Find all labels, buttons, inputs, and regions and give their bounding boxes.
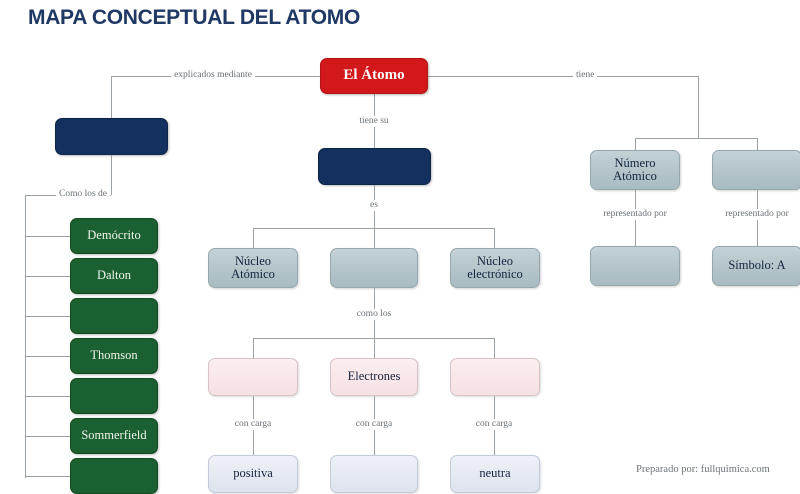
connector-left-drop — [111, 76, 112, 118]
connector-particle-drop-right — [494, 338, 495, 358]
node-simbolo-a[interactable]: Símbolo: A — [712, 246, 800, 286]
link-label-representado-por-2: representado por — [722, 209, 792, 220]
link-label-tiene-su: tiene su — [356, 116, 391, 127]
link-label-tiene: tiene — [573, 70, 597, 81]
node-nucleo-atomico[interactable]: Núcleo Atómico — [208, 248, 298, 288]
connector-left-stub-2 — [25, 276, 70, 277]
link-label-representado-por-1: representado por — [600, 209, 670, 220]
connector-left-stub-1 — [25, 236, 70, 237]
node-left-head[interactable] — [55, 118, 168, 155]
connector-center-drop-mid — [374, 228, 375, 248]
connector-left-stub-3 — [25, 316, 70, 317]
node-particle-1[interactable] — [208, 358, 298, 396]
node-numero-atomico[interactable]: Número Atómico — [590, 150, 680, 190]
node-root-atomo[interactable]: El Átomo — [320, 58, 428, 94]
link-label-con-carga-1: con carga — [232, 419, 274, 430]
connector-center-drop-left — [253, 228, 254, 248]
node-model-7[interactable] — [70, 458, 158, 494]
connector-left-stub-7 — [25, 476, 70, 477]
node-charge-positiva[interactable]: positiva — [208, 455, 298, 493]
node-model-sommerfield[interactable]: Sommerfield — [70, 418, 158, 454]
connector-right-drop-left — [635, 138, 636, 150]
node-right-representation-1[interactable] — [590, 246, 680, 286]
node-model-dalton[interactable]: Dalton — [70, 258, 158, 294]
link-label-como-los-de: Como los de — [56, 189, 110, 200]
footer-credit: Preparado por: fullquimica.com — [636, 464, 770, 475]
node-model-5[interactable] — [70, 378, 158, 414]
node-model-thomson[interactable]: Thomson — [70, 338, 158, 374]
connector-left-stub-5 — [25, 396, 70, 397]
link-label-con-carga-2: con carga — [353, 419, 395, 430]
connector-left-head-down — [111, 155, 112, 195]
node-right-property-2[interactable] — [712, 150, 800, 190]
connector-particle-drop-left — [253, 338, 254, 358]
link-label-es: es — [367, 200, 381, 211]
connector-left-stub-4 — [25, 356, 70, 357]
concept-map-canvas: MAPA CONCEPTUAL DEL ATOMO El Átomo expli… — [0, 0, 800, 494]
link-label-como-los: como los — [354, 309, 395, 320]
connector-center-drop-right — [494, 228, 495, 248]
connector-particle-drop-mid — [374, 338, 375, 358]
connector-right-drop-right — [757, 138, 758, 150]
connector-left-stub-6 — [25, 436, 70, 437]
link-label-con-carga-3: con carga — [473, 419, 515, 430]
node-charge-2[interactable] — [330, 455, 418, 493]
connector-right-drop — [698, 76, 699, 138]
node-particle-electrones[interactable]: Electrones — [330, 358, 418, 396]
node-particle-3[interactable] — [450, 358, 540, 396]
node-center-head[interactable] — [318, 148, 431, 185]
node-nucleo-electronico[interactable]: Núcleo electrónico — [450, 248, 540, 288]
connector-root-to-right — [428, 76, 698, 77]
link-label-explicados-mediante: explicados mediante — [171, 70, 255, 81]
node-model-3[interactable] — [70, 298, 158, 334]
node-center-part-2[interactable] — [330, 248, 418, 288]
page-title: MAPA CONCEPTUAL DEL ATOMO — [28, 6, 360, 30]
node-charge-neutra[interactable]: neutra — [450, 455, 540, 493]
connector-right-split-bar — [635, 138, 757, 139]
node-model-democrito[interactable]: Demócrito — [70, 218, 158, 254]
